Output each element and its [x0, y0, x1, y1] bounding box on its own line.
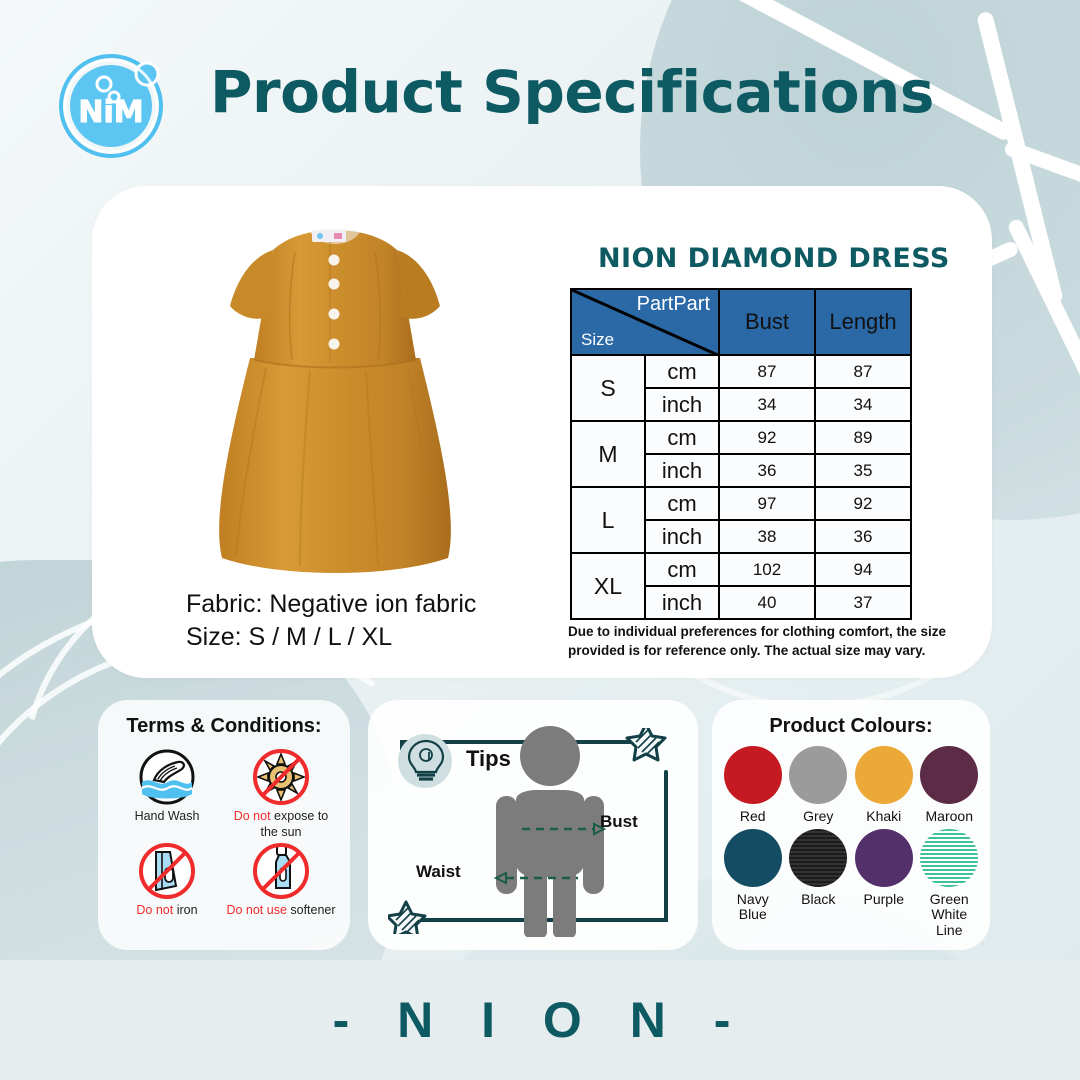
no-sun-icon — [252, 748, 310, 806]
size-line: Size: S / M / L / XL — [186, 621, 476, 654]
swatch-green-white-line[interactable] — [920, 829, 978, 887]
colour-name: Green White Line — [917, 892, 983, 939]
header-bust: Bust — [719, 289, 815, 355]
size-label-xl: XL — [571, 553, 645, 619]
care-icons-grid: Hand Wash — [98, 738, 350, 919]
swatch-maroon[interactable] — [920, 746, 978, 804]
colour-name: Grey — [786, 809, 852, 825]
header-part-label: PartPart — [637, 293, 710, 316]
star-decoration-icon — [388, 902, 425, 934]
care-red-text: Do not use — [226, 903, 286, 917]
colour-item-maroon[interactable]: Maroon — [917, 746, 983, 825]
swatch-grey[interactable] — [789, 746, 847, 804]
lightbulb-icon — [406, 738, 446, 784]
size-label-s: S — [571, 355, 645, 421]
care-item-no-sun: Do not expose to the sun — [226, 748, 336, 840]
table-header-row: PartPart Size Bust Length — [571, 289, 911, 355]
length-s-inch: 34 — [815, 388, 911, 421]
length-xl-cm: 94 — [815, 553, 911, 586]
bust-s-cm: 87 — [719, 355, 815, 388]
infographic-canvas: NiM Product Specifications — [0, 0, 1080, 1080]
no-iron-icon — [138, 842, 196, 900]
unit-inch: inch — [645, 388, 719, 421]
care-label: Do not expose to the sun — [226, 809, 336, 840]
header-length: Length — [815, 289, 911, 355]
length-m-inch: 35 — [815, 454, 911, 487]
length-xl-inch: 37 — [815, 586, 911, 619]
swatch-khaki[interactable] — [855, 746, 913, 804]
colour-name: Khaki — [851, 809, 917, 825]
colour-name: Red — [720, 809, 786, 825]
unit-cm: cm — [645, 421, 719, 454]
header-size-label: Size — [581, 330, 614, 350]
swatch-navy-blue[interactable] — [724, 829, 782, 887]
terms-heading: Terms & Conditions: — [98, 700, 350, 738]
size-label-l: L — [571, 487, 645, 553]
bust-l-inch: 38 — [719, 520, 815, 553]
unit-inch: inch — [645, 586, 719, 619]
colour-item-navy-blue[interactable]: Navy Blue — [720, 829, 786, 939]
size-chart-table: PartPart Size Bust Length S cm 87 87 inc… — [570, 288, 912, 620]
colour-item-black[interactable]: Black — [786, 829, 852, 939]
page-header: NiM Product Specifications — [0, 36, 1080, 166]
tips-panel: Tips Bust Waist — [368, 700, 698, 950]
care-red-text: Do not — [136, 903, 173, 917]
bust-s-inch: 34 — [719, 388, 815, 421]
colour-item-green-white-line[interactable]: Green White Line — [917, 829, 983, 939]
unit-inch: inch — [645, 454, 719, 487]
unit-cm: cm — [645, 487, 719, 520]
care-black-text: expose to the sun — [260, 809, 328, 839]
colour-item-grey[interactable]: Grey — [786, 746, 852, 825]
table-row: M cm 92 89 — [571, 421, 911, 454]
care-label: Do not iron — [112, 903, 222, 919]
colours-panel: Product Colours: Red Grey Khaki Maroon N… — [712, 700, 990, 950]
care-item-hand-wash: Hand Wash — [112, 748, 222, 840]
care-label: Do not use softener — [226, 903, 336, 919]
colour-name: Navy Blue — [720, 892, 786, 923]
no-softener-icon — [252, 842, 310, 900]
swatch-purple[interactable] — [855, 829, 913, 887]
size-label-m: M — [571, 421, 645, 487]
colours-heading: Product Colours: — [712, 700, 990, 738]
colour-item-purple[interactable]: Purple — [851, 829, 917, 939]
table-header-diagonal-cell: PartPart Size — [571, 289, 719, 355]
care-item-no-softener: Do not use softener — [226, 842, 336, 919]
unit-cm: cm — [645, 355, 719, 388]
page-title: Product Specifications — [210, 58, 934, 126]
care-item-no-iron: Do not iron — [112, 842, 222, 919]
care-black-text: iron — [173, 903, 197, 917]
page-footer: - N I O N - — [0, 960, 1080, 1080]
nim-logo: NiM — [52, 46, 170, 164]
colour-name: Black — [786, 892, 852, 908]
bust-m-inch: 36 — [719, 454, 815, 487]
bust-measure-label: Bust — [600, 812, 638, 832]
colour-item-red[interactable]: Red — [720, 746, 786, 825]
waist-measure-label: Waist — [416, 862, 461, 882]
care-label: Hand Wash — [112, 809, 222, 825]
svg-text:NiM: NiM — [78, 95, 143, 130]
swatch-red[interactable] — [724, 746, 782, 804]
care-black-text: Hand Wash — [135, 809, 200, 823]
unit-cm: cm — [645, 553, 719, 586]
colour-name: Purple — [851, 892, 917, 908]
mannequin-figure — [490, 722, 670, 937]
table-row: XL cm 102 94 — [571, 553, 911, 586]
colour-name: Maroon — [917, 809, 983, 825]
terms-panel: Terms & Conditions: Hand Wash — [98, 700, 350, 950]
product-name-title: NION DIAMOND DRESS — [598, 243, 950, 274]
length-s-cm: 87 — [815, 355, 911, 388]
unit-inch: inch — [645, 520, 719, 553]
length-l-cm: 92 — [815, 487, 911, 520]
table-row: S cm 87 87 — [571, 355, 911, 388]
bust-l-cm: 97 — [719, 487, 815, 520]
size-disclaimer: Due to individual preferences for clothi… — [568, 623, 960, 660]
brand-wordmark: - N I O N - — [333, 991, 748, 1049]
swatch-black[interactable] — [789, 829, 847, 887]
hand-wash-icon — [138, 748, 196, 806]
fabric-line: Fabric: Negative ion fabric — [186, 588, 476, 621]
table-row: L cm 97 92 — [571, 487, 911, 520]
bust-xl-inch: 40 — [719, 586, 815, 619]
fabric-size-text: Fabric: Negative ion fabric Size: S / M … — [186, 588, 476, 655]
dress-product-image — [170, 218, 500, 578]
care-black-text: softener — [287, 903, 336, 917]
length-l-inch: 36 — [815, 520, 911, 553]
care-red-text: Do not — [234, 809, 271, 823]
bust-m-cm: 92 — [719, 421, 815, 454]
bust-xl-cm: 102 — [719, 553, 815, 586]
colour-item-khaki[interactable]: Khaki — [851, 746, 917, 825]
colour-swatch-grid: Red Grey Khaki Maroon Navy Blue Black — [712, 738, 990, 939]
length-m-cm: 89 — [815, 421, 911, 454]
